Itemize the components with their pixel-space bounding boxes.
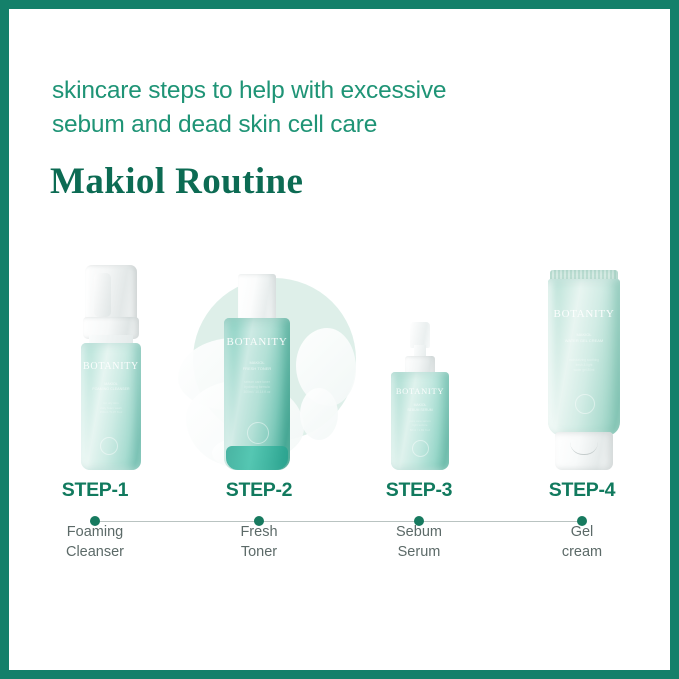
page-title: Makiol Routine <box>50 160 303 204</box>
liquid-fill <box>226 446 288 470</box>
product-seal-icon <box>100 437 118 455</box>
product-seal-icon <box>575 394 595 414</box>
pump-stem <box>94 273 111 317</box>
step-caption-1: Foaming Cleanser <box>25 522 165 562</box>
step-caption-1-line-2: Cleanser <box>25 542 165 562</box>
product-microtext: for oily skindaily foam wash150ml / 5.07… <box>63 401 159 415</box>
step-caption-2-line-2: Toner <box>189 542 329 562</box>
step-column-3: STEP-3 Sebum Serum <box>349 479 489 562</box>
step-caption-3: Sebum Serum <box>349 522 489 562</box>
product-microtext: pore care serumlight texture50ml / 1.69 … <box>391 419 449 432</box>
pump-dome-cap <box>85 265 137 321</box>
bottle-cap <box>238 274 276 322</box>
product-sublabel: MAKIOLSEBUM SERUM <box>391 403 449 413</box>
subtitle-line-2: sebum and dead skin cell care <box>52 108 572 142</box>
product-logo: BOTANITY <box>391 386 449 396</box>
step-caption-3-line-2: Serum <box>349 542 489 562</box>
product-sublabel: MAKIOLWATER GEL CREAM <box>548 332 620 344</box>
product-seal-icon <box>247 422 269 444</box>
step-caption-2: Fresh Toner <box>189 522 329 562</box>
product-logo: BOTANITY <box>224 336 290 348</box>
step-column-1: STEP-1 Foaming Cleanser <box>25 479 165 562</box>
product-logo: BOTANITY <box>548 308 620 320</box>
step-label-3: STEP-3 <box>349 479 489 501</box>
product-stage: BOTANITY MAKIOLFOAMING CLEANSER for oily… <box>0 240 679 470</box>
product-sublabel: MAKIOLFRESH TONER <box>224 360 290 372</box>
gel-splash-blob <box>300 388 338 440</box>
step-caption-3-line-1: Sebum <box>396 524 442 540</box>
step-caption-4: Gel cream <box>512 522 652 562</box>
product-sebum-serum: BOTANITY MAKIOLSEBUM SERUM pore care ser… <box>391 322 449 470</box>
subtitle: skincare steps to help with excessive se… <box>52 74 572 142</box>
product-foaming-cleanser: BOTANITY MAKIOLFOAMING CLEANSER for oily… <box>63 265 159 470</box>
product-logo: BOTANITY <box>63 361 159 372</box>
product-microtext: moisturizing soothingfresh & lightwater … <box>548 358 620 372</box>
step-column-2: STEP-2 Fresh Toner <box>189 479 329 562</box>
product-gel-cream: BOTANITY MAKIOLWATER GEL CREAM moisturiz… <box>548 270 620 470</box>
product-microtext: sebum care tonerhydrating formula300ml /… <box>224 380 290 395</box>
step-label-1: STEP-1 <box>25 479 165 501</box>
step-caption-1-line-1: Foaming <box>67 524 123 540</box>
subtitle-line-1: skincare steps to help with excessive <box>52 77 446 104</box>
infographic-canvas: BOTANITY MAKIOLFOAMING CLEANSER for oily… <box>0 0 679 679</box>
product-fresh-toner: BOTANITY MAKIOLFRESH TONER sebum care to… <box>224 274 290 470</box>
step-caption-4-line-2: cream <box>512 542 652 562</box>
step-column-4: STEP-4 Gel cream <box>512 479 652 562</box>
product-sublabel: MAKIOLFOAMING CLEANSER <box>63 382 159 392</box>
product-seal-icon <box>412 440 429 457</box>
step-label-2: STEP-2 <box>189 479 329 501</box>
step-caption-2-line-1: Fresh <box>240 524 277 540</box>
step-caption-4-line-1: Gel <box>571 524 594 540</box>
step-label-4: STEP-4 <box>512 479 652 501</box>
